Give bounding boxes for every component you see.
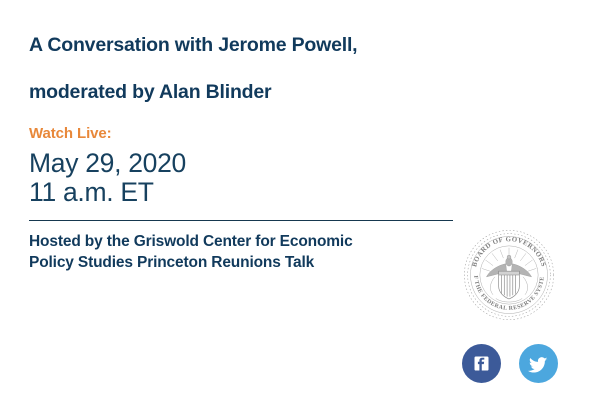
horizontal-divider xyxy=(29,220,453,221)
facebook-share-button[interactable] xyxy=(462,344,501,383)
federal-reserve-seal-icon: BOARD OF GOVERNORS OF THE FEDERAL RESERV… xyxy=(462,228,556,322)
page-title-line-2: moderated by Alan Blinder xyxy=(29,83,459,103)
event-time: 11 a.m. ET xyxy=(29,178,459,208)
event-datetime: May 29, 2020 11 a.m. ET xyxy=(29,149,459,208)
seal-container: BOARD OF GOVERNORS OF THE FEDERAL RESERV… xyxy=(462,228,562,322)
hosted-by-text: Hosted by the Griswold Center for Econom… xyxy=(29,231,379,273)
watch-live-label: Watch Live: xyxy=(29,126,459,143)
twitter-icon xyxy=(528,353,550,375)
event-date: May 29, 2020 xyxy=(29,149,459,179)
twitter-share-button[interactable] xyxy=(519,344,558,383)
page-title-line-1: A Conversation with Jerome Powell, xyxy=(29,36,459,56)
facebook-icon xyxy=(471,353,492,374)
event-promo-card: A Conversation with Jerome Powell, moder… xyxy=(0,0,600,400)
social-links xyxy=(462,344,562,383)
text-content-block: A Conversation with Jerome Powell, moder… xyxy=(29,36,459,273)
